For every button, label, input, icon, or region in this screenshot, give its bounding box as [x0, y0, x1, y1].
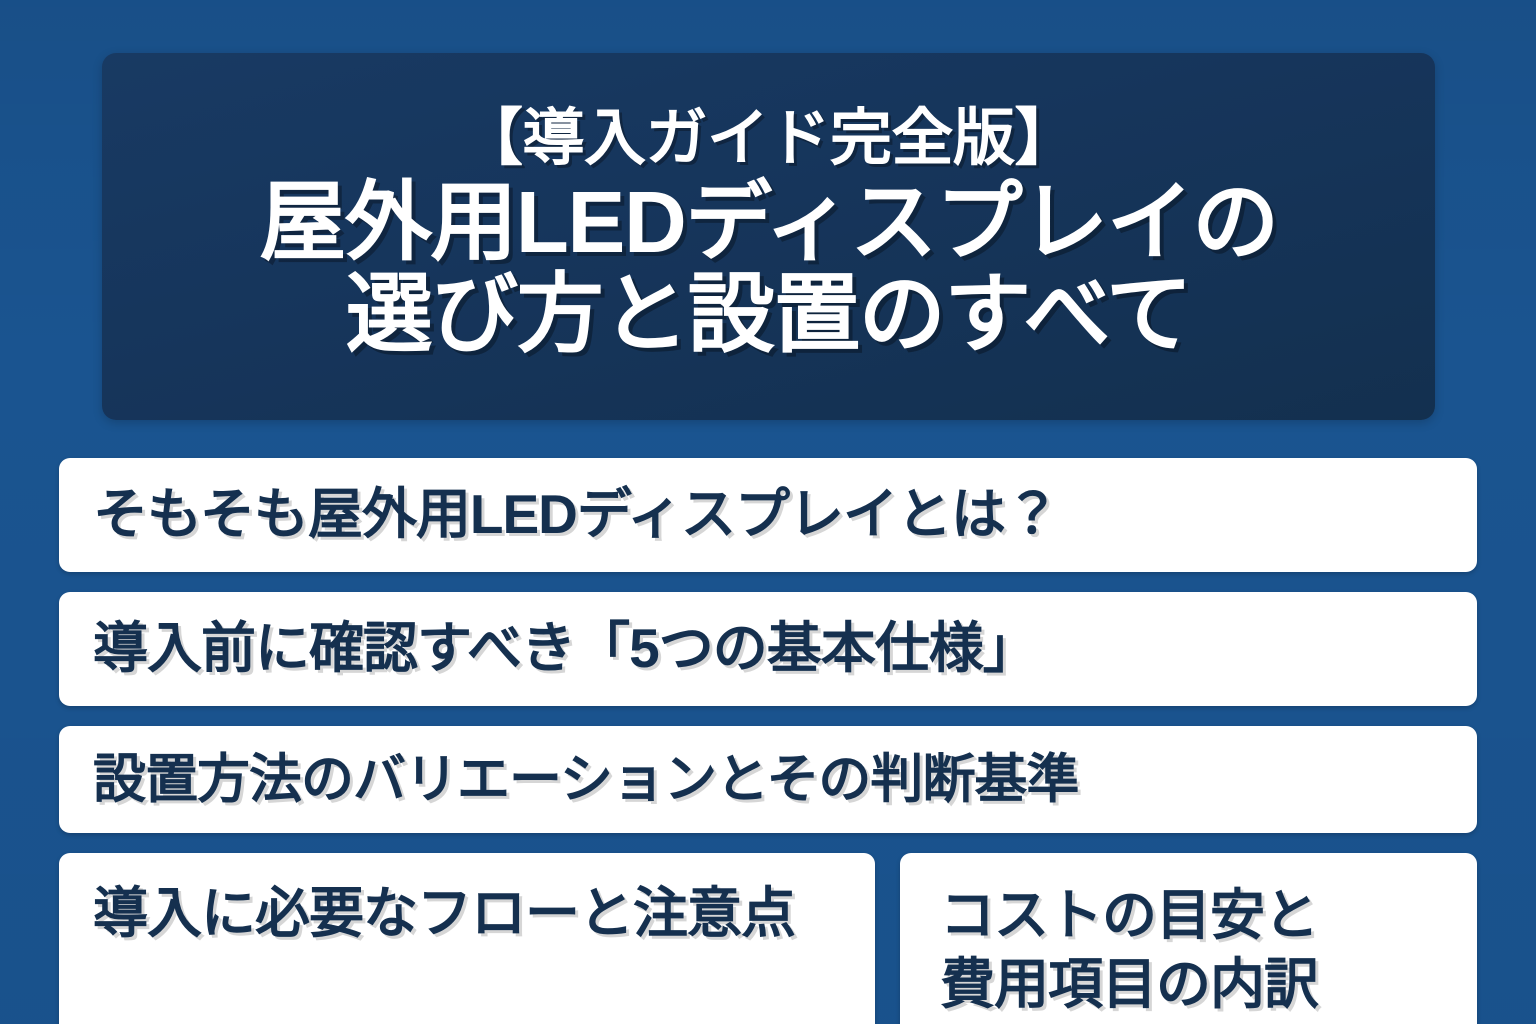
page-title: 屋外用LEDディスプレイの 選び方と設置のすべて — [259, 177, 1277, 361]
topic-card-4[interactable]: 導入に必要なフローと注意点 — [59, 853, 875, 1024]
topic-card-5-label-line-1: コストの目安と — [940, 881, 1318, 950]
title-eyebrow: 【導入ガイド完全版】 — [461, 104, 1076, 173]
topic-card-2-label: 導入前に確認すべき「5つの基本仕様」 — [93, 618, 1037, 680]
topic-card-1-label: そもそも屋外用LEDディスプレイとは？ — [93, 484, 1059, 546]
topic-row-3: 設置方法のバリエーションとその判断基準 — [59, 726, 1477, 833]
title-line-2: 選び方と設置のすべて — [259, 269, 1277, 361]
infographic-poster: 【導入ガイド完全版】 屋外用LEDディスプレイの 選び方と設置のすべて そもそも… — [0, 0, 1536, 1024]
title-line-1: 屋外用LEDディスプレイの — [259, 177, 1277, 269]
topic-card-5-label-line-2: 費用項目の内訳 — [940, 950, 1318, 1019]
topic-card-3[interactable]: 設置方法のバリエーションとその判断基準 — [59, 726, 1477, 833]
topic-card-5[interactable]: コストの目安と 費用項目の内訳 — [900, 853, 1477, 1024]
topic-card-4-label: 導入に必要なフローと注意点 — [93, 883, 795, 945]
topic-row-2: 導入前に確認すべき「5つの基本仕様」 — [59, 592, 1477, 706]
title-panel: 【導入ガイド完全版】 屋外用LEDディスプレイの 選び方と設置のすべて — [102, 53, 1435, 420]
topic-card-list: そもそも屋外用LEDディスプレイとは？ 導入前に確認すべき「5つの基本仕様」 設… — [59, 458, 1477, 1024]
topic-row-4: 導入に必要なフローと注意点 コストの目安と 費用項目の内訳 — [59, 853, 1477, 1024]
topic-row-1: そもそも屋外用LEDディスプレイとは？ — [59, 458, 1477, 572]
topic-card-2[interactable]: 導入前に確認すべき「5つの基本仕様」 — [59, 592, 1477, 706]
topic-card-1[interactable]: そもそも屋外用LEDディスプレイとは？ — [59, 458, 1477, 572]
topic-card-3-label: 設置方法のバリエーションとその判断基準 — [93, 750, 1078, 809]
